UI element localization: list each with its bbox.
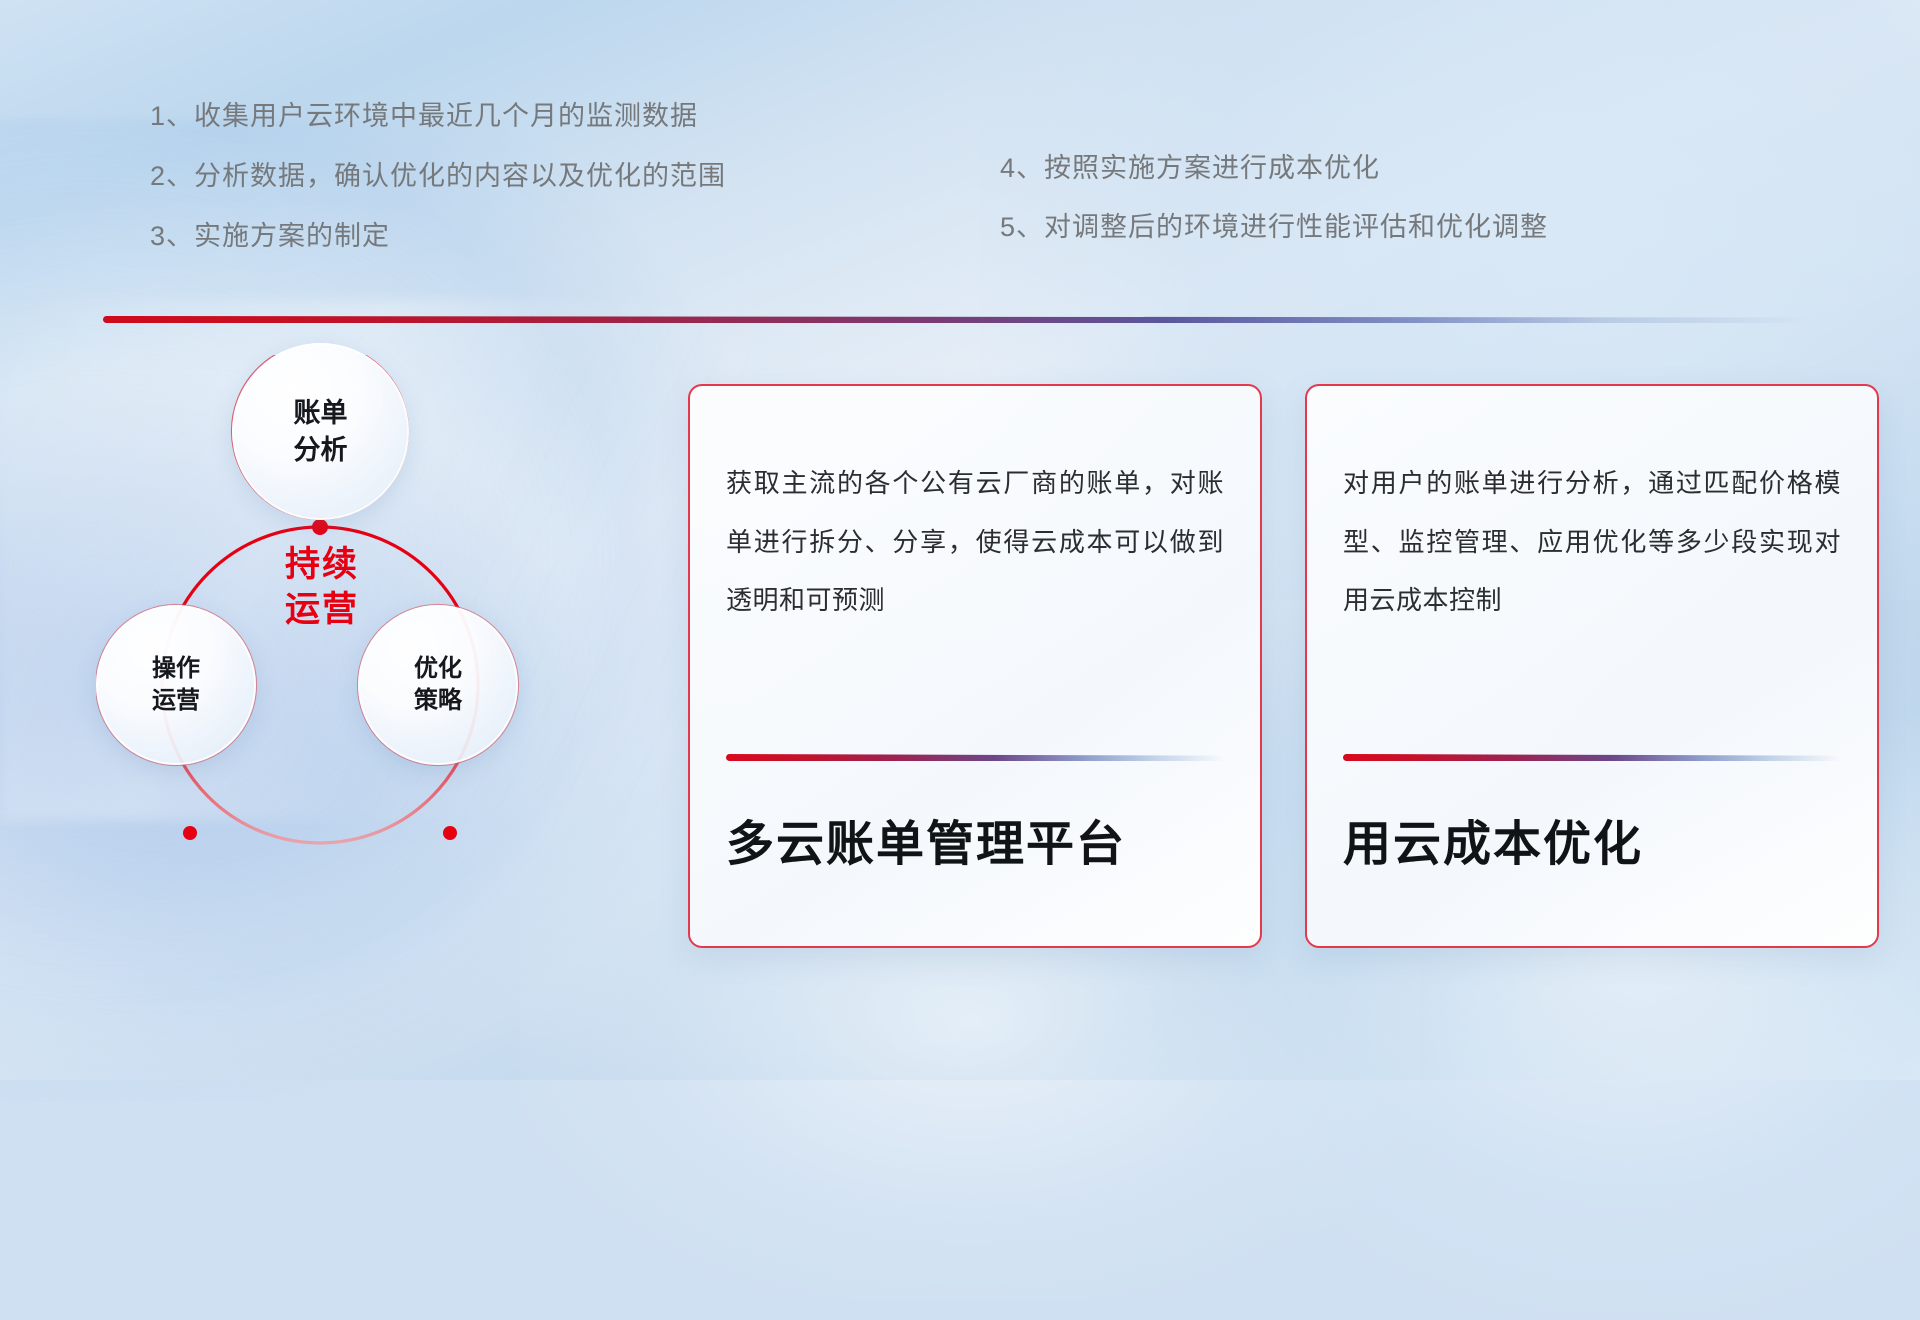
- bubble-bill-analysis-line2: 分析: [294, 432, 348, 468]
- card-1-body: 获取主流的各个公有云厂商的账单，对账单进行拆分、分享，使得云成本可以做到透明和可…: [726, 454, 1224, 630]
- card-multi-cloud-bill-platform[interactable]: 获取主流的各个公有云厂商的账单，对账单进行拆分、分享，使得云成本可以做到透明和可…: [688, 384, 1262, 948]
- step-item-1: 1、收集用户云环境中最近几个月的监测数据: [150, 100, 726, 134]
- bubble-optimization-strategy-line1: 优化: [414, 653, 462, 685]
- node-top: [312, 519, 328, 535]
- bubble-operations-line1: 操作: [152, 653, 200, 685]
- card-2-title: 用云成本优化: [1343, 804, 1857, 874]
- diagram-center-label-line1: 持续: [242, 543, 402, 588]
- step-item-2: 2、分析数据，确认优化的内容以及优化的范围: [150, 160, 726, 194]
- node-bottom-right: [443, 826, 457, 840]
- steps-column-left: 1、收集用户云环境中最近几个月的监测数据 2、分析数据，确认优化的内容以及优化的…: [150, 100, 726, 279]
- card-cloud-cost-optimization[interactable]: 对用户的账单进行分析，通过匹配价格模型、监控管理、应用优化等多少段实现对用云成本…: [1305, 384, 1879, 948]
- card-2-divider: [1343, 754, 1841, 761]
- bubble-optimization-strategy-line2: 策略: [414, 685, 462, 717]
- card-2-body: 对用户的账单进行分析，通过匹配价格模型、监控管理、应用优化等多少段实现对用云成本…: [1343, 454, 1841, 630]
- bubble-bill-analysis[interactable]: 账单 分析: [232, 343, 409, 520]
- bubble-bill-analysis-line1: 账单: [294, 395, 348, 431]
- step-item-3: 3、实施方案的制定: [150, 220, 726, 254]
- card-1-divider: [726, 754, 1224, 761]
- steps-column-right: 4、按照实施方案进行成本优化 5、对调整后的环境进行性能评估和优化调整: [1000, 152, 1548, 270]
- node-bottom-left: [183, 826, 197, 840]
- bubble-operations[interactable]: 操作 运营: [96, 605, 256, 765]
- continuous-operations-diagram: 账单 分析 操作 运营 优化 策略 持续 运营: [96, 355, 636, 935]
- step-item-5: 5、对调整后的环境进行性能评估和优化调整: [1000, 211, 1548, 245]
- bubble-operations-line2: 运营: [152, 685, 200, 717]
- diagram-center-label: 持续 运营: [242, 543, 402, 633]
- step-item-4: 4、按照实施方案进行成本优化: [1000, 152, 1548, 186]
- card-1-title: 多云账单管理平台: [726, 804, 1240, 874]
- diagram-center-label-line2: 运营: [242, 588, 402, 633]
